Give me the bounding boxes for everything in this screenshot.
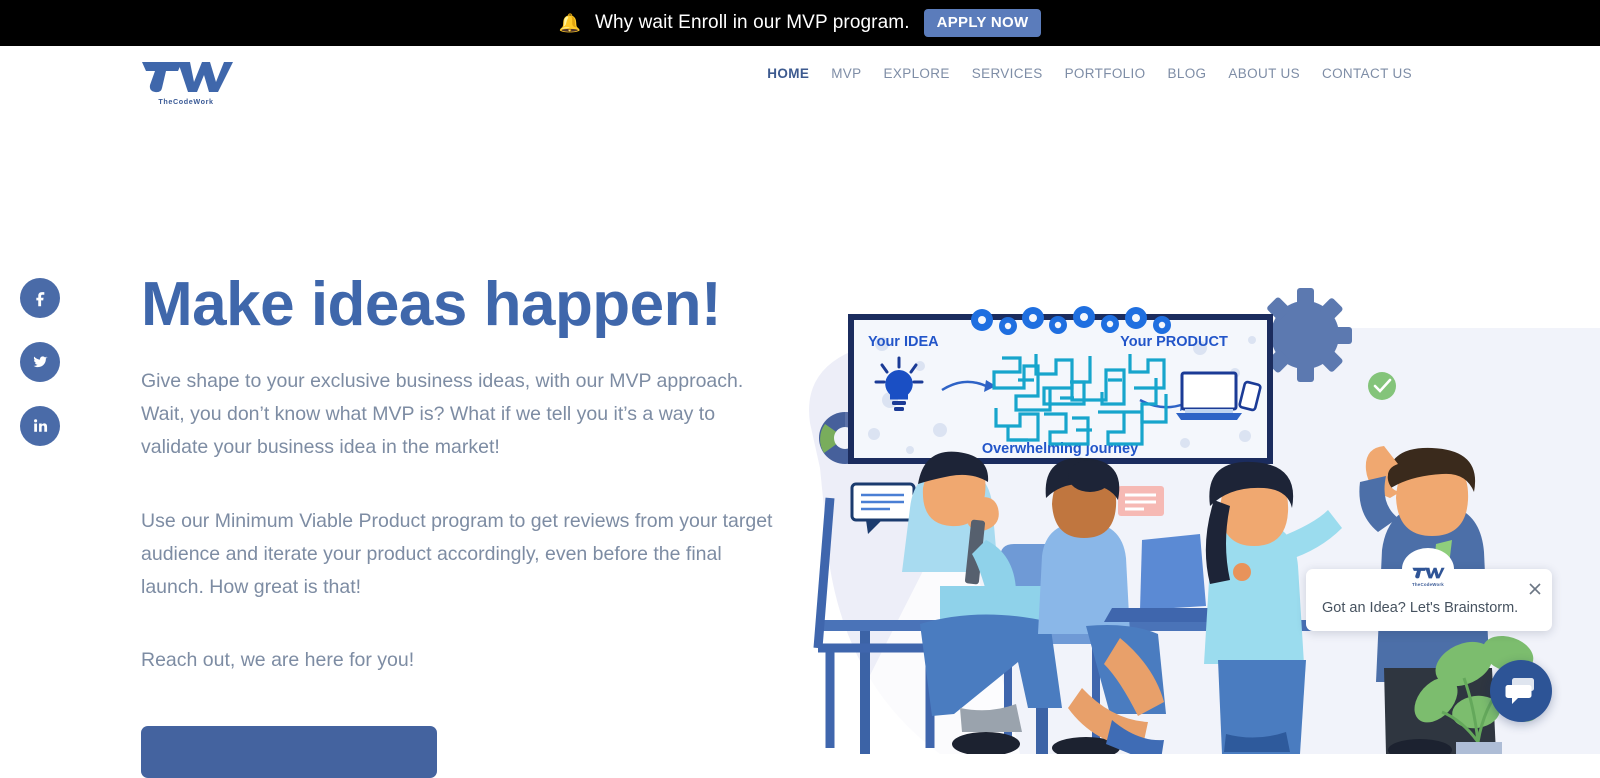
close-glyph-icon <box>1528 582 1542 596</box>
announcement-banner: 🔔 Why wait Enroll in our MVP program. AP… <box>0 0 1600 46</box>
logo-mark-icon <box>138 58 234 96</box>
social-share-rail <box>20 278 60 446</box>
page-title: Make ideas happen! <box>141 272 791 337</box>
chat-avatar-wordmark: TheCodeWork <box>1412 582 1444 587</box>
main-navigation: HOME MVP EXPLORE SERVICES PORTFOLIO BLOG… <box>767 66 1412 81</box>
hero-paragraph-3: Reach out, we are here for you! <box>141 644 781 677</box>
nav-item-blog[interactable]: BLOG <box>1167 66 1206 81</box>
logo-wordmark: TheCodeWork <box>158 97 213 106</box>
pink-note-icon <box>1118 486 1164 516</box>
nav-item-home[interactable]: HOME <box>767 66 809 81</box>
hero-illustration: Your IDEA Your PRODUCT Overwhelming jour… <box>790 168 1600 754</box>
chat-avatar-logo-icon <box>1411 565 1445 581</box>
hero-illustration-svg: Your IDEA Your PRODUCT Overwhelming jour… <box>790 168 1600 754</box>
nav-item-portfolio[interactable]: PORTFOLIO <box>1065 66 1146 81</box>
whiteboard-label-right: Your PRODUCT <box>1120 334 1228 350</box>
nav-item-contact-us[interactable]: CONTACT US <box>1322 66 1412 81</box>
apply-now-button[interactable]: APPLY NOW <box>924 9 1042 37</box>
hero-paragraph-2: Use our Minimum Viable Product program t… <box>141 505 781 603</box>
chat-tooltip-text: Got an Idea? Let's Brainstorm. <box>1322 600 1518 616</box>
whiteboard-label-left: Your IDEA <box>868 334 939 350</box>
chat-avatar: TheCodeWork <box>1402 548 1454 590</box>
banner-text: Why wait Enroll in our MVP program. <box>595 12 910 34</box>
green-check-icon <box>1368 372 1396 400</box>
hero-text-block: Make ideas happen! Give shape to your ex… <box>141 272 791 676</box>
facebook-glyph-icon <box>29 287 51 309</box>
facebook-icon[interactable] <box>20 278 60 318</box>
nav-item-services[interactable]: SERVICES <box>972 66 1043 81</box>
nav-item-mvp[interactable]: MVP <box>831 66 861 81</box>
hero-paragraph-1: Give shape to your exclusive business id… <box>141 365 781 463</box>
linkedin-icon[interactable] <box>20 406 60 446</box>
twitter-glyph-icon <box>29 351 51 373</box>
linkedin-glyph-icon <box>29 415 51 437</box>
laptop-icon <box>1176 373 1242 420</box>
chat-bubble-glyph-icon <box>1505 676 1537 706</box>
twitter-icon[interactable] <box>20 342 60 382</box>
site-logo[interactable]: TheCodeWork <box>138 58 234 108</box>
hero-cta-button[interactable] <box>141 726 437 778</box>
nav-item-about-us[interactable]: ABOUT US <box>1228 66 1300 81</box>
whiteboard: Your IDEA Your PRODUCT Overwhelming jour… <box>848 306 1273 464</box>
bell-icon: 🔔 <box>559 14 581 32</box>
site-header: TheCodeWork HOME MVP EXPLORE SERVICES PO… <box>0 46 1600 126</box>
chat-bubble-icon[interactable] <box>1490 660 1552 722</box>
nav-item-explore[interactable]: EXPLORE <box>884 66 950 81</box>
close-icon[interactable] <box>1526 580 1544 598</box>
